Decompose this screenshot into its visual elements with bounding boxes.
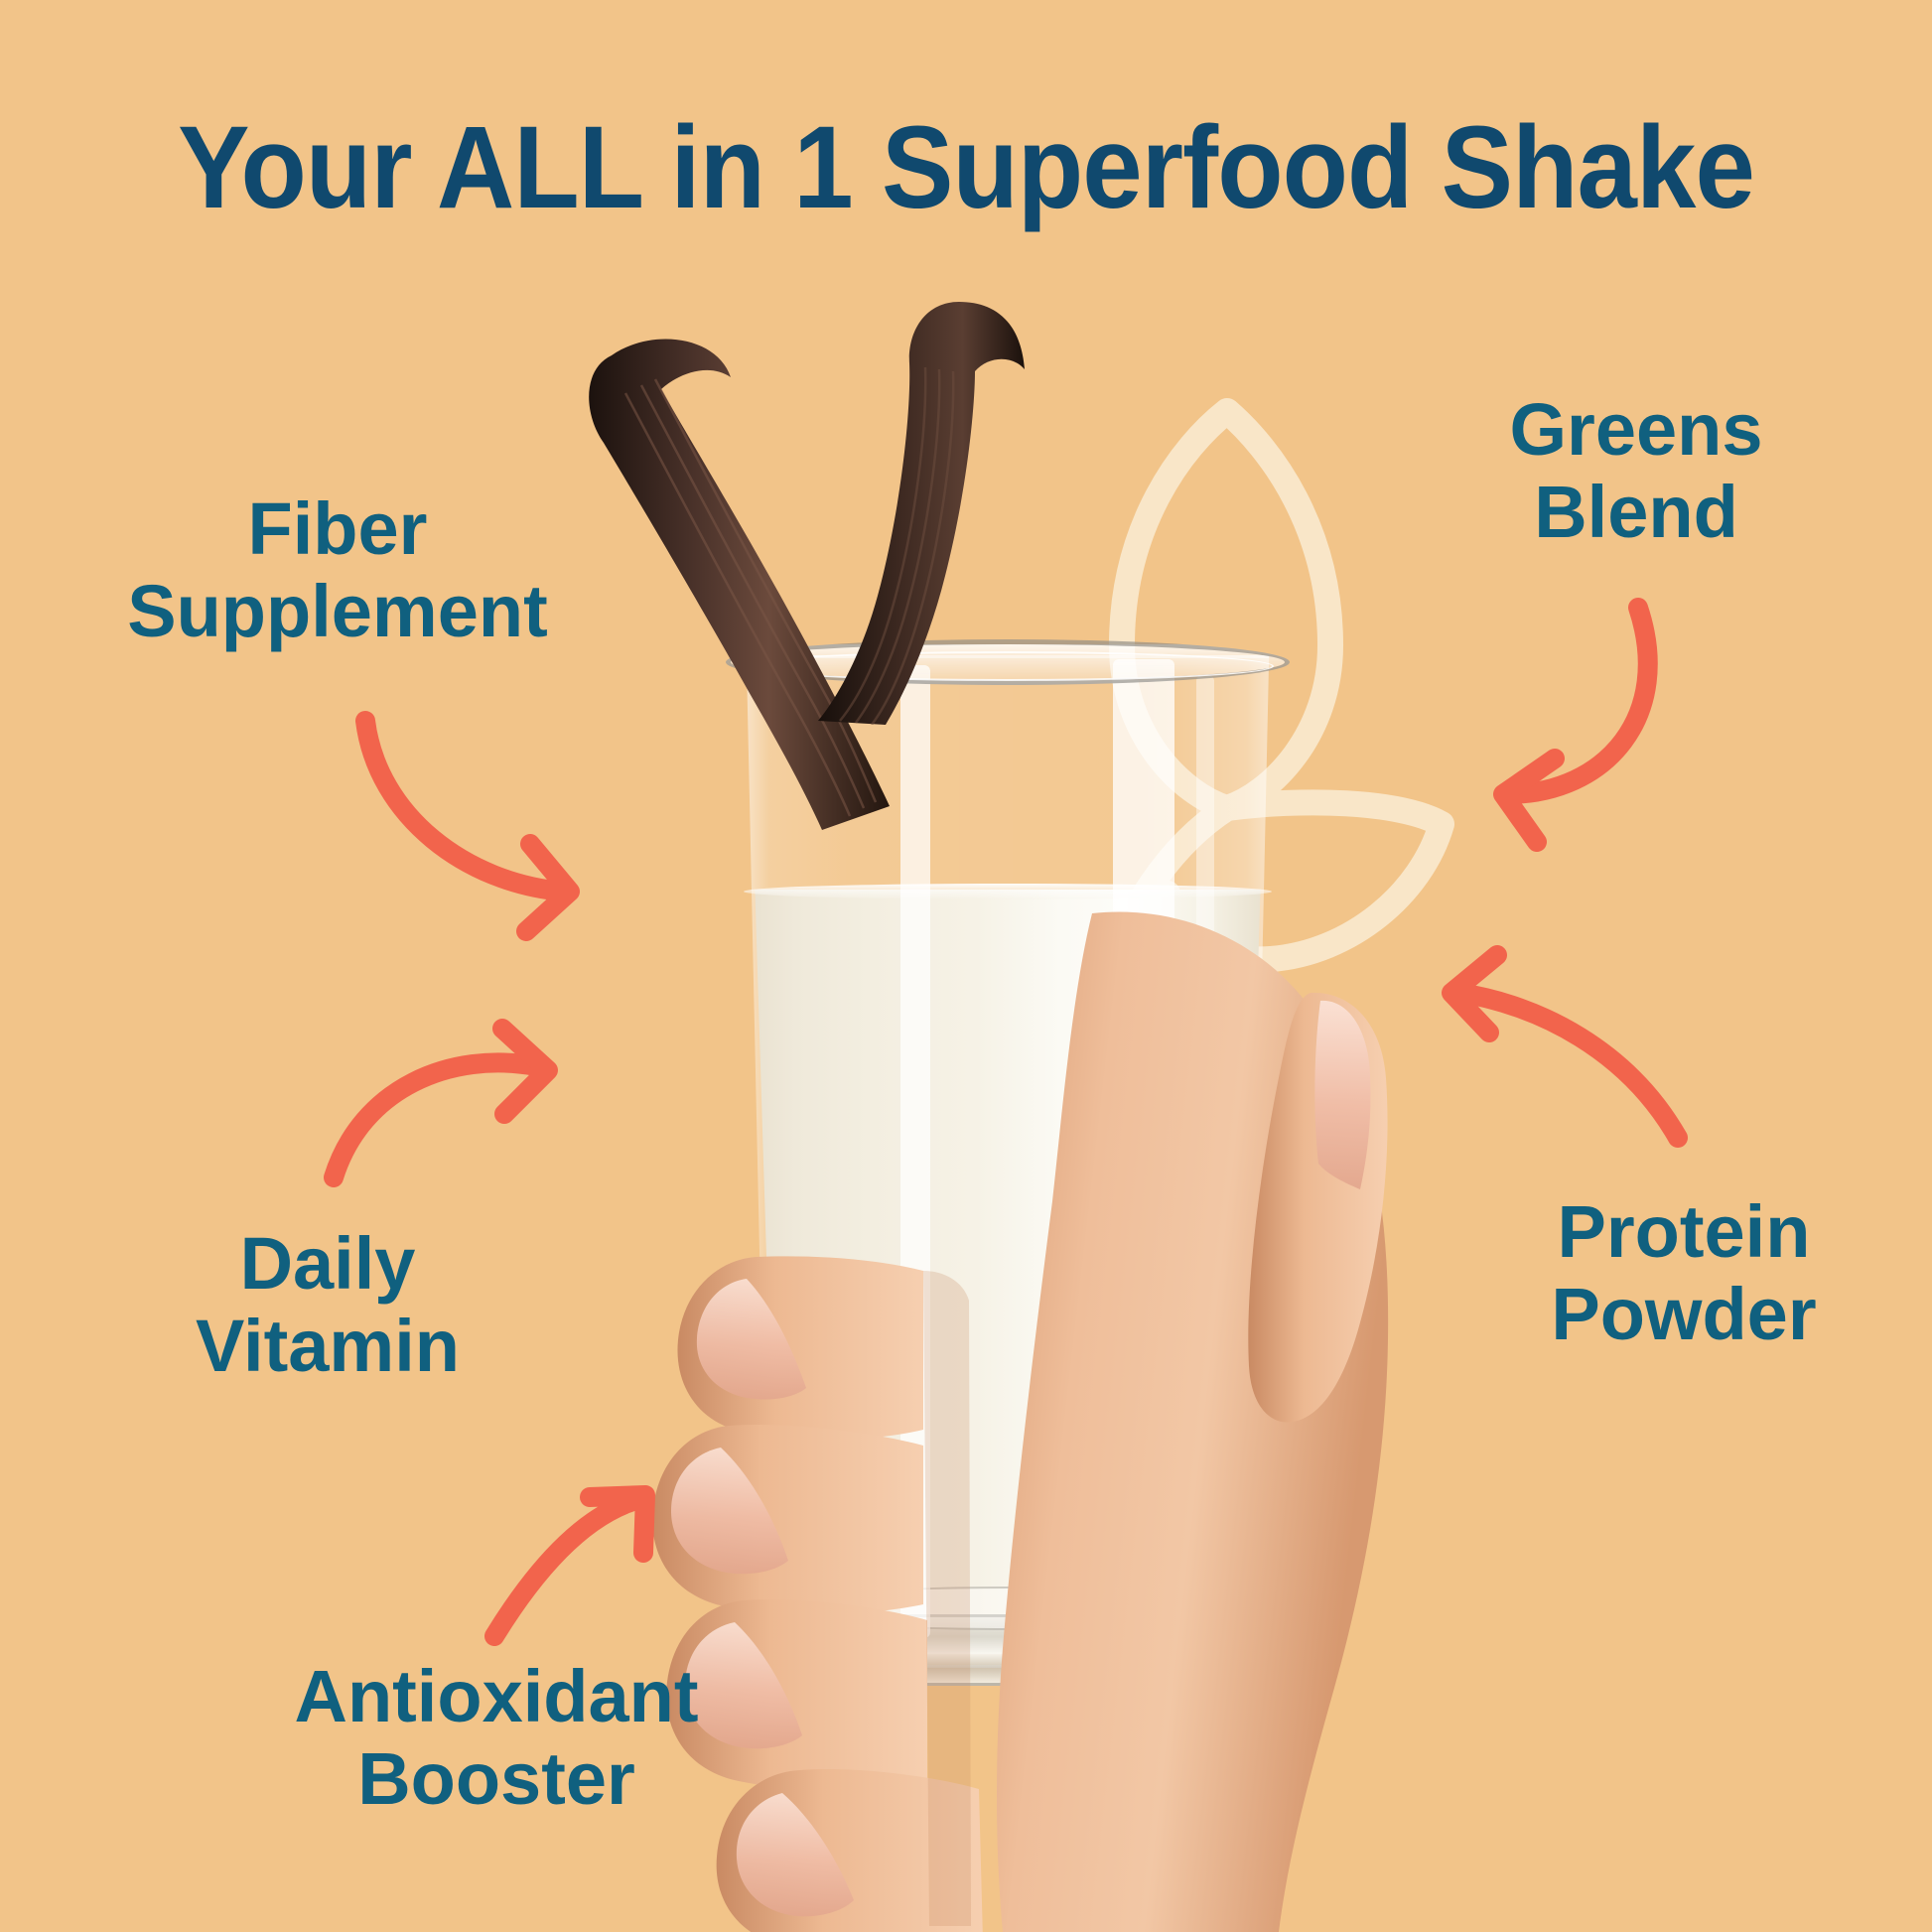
callout-label-protein-powder: Protein Powder — [1436, 1191, 1932, 1356]
callout-label-daily-vitamin: Daily Vitamin — [99, 1223, 556, 1388]
poster-canvas: Your ALL in 1 Superfood Shake Fiber Supp… — [0, 0, 1932, 1932]
callout-label-greens-blend: Greens Blend — [1378, 389, 1894, 554]
product-photo — [0, 0, 1932, 1932]
vanilla-bean-icon — [774, 268, 1072, 725]
callout-label-antioxidant-booster: Antioxidant Booster — [189, 1656, 804, 1821]
page-title: Your ALL in 1 Superfood Shake — [77, 107, 1855, 230]
callout-label-fiber-supplement: Fiber Supplement — [69, 488, 606, 653]
